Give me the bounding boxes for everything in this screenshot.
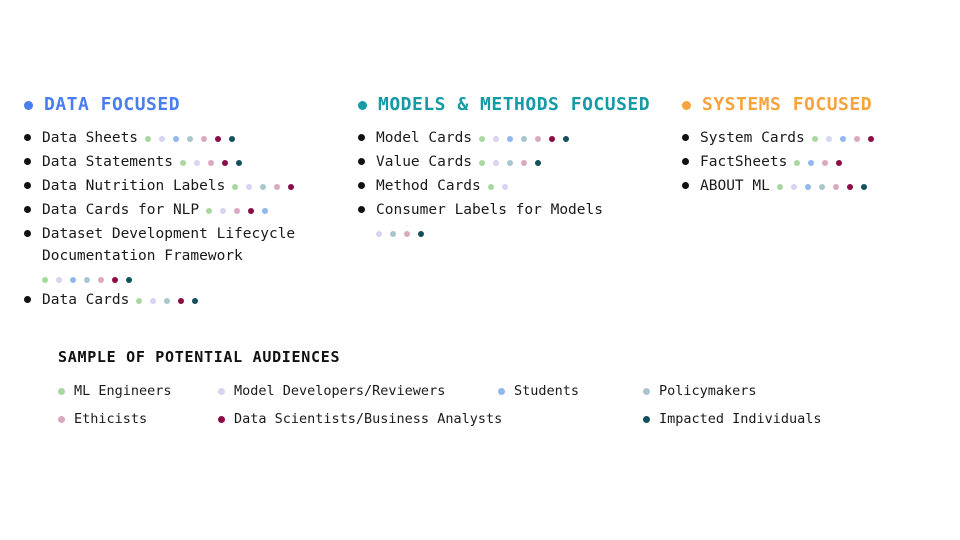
audience-dot-model-developers: [246, 184, 252, 190]
legend-item-students: Students: [498, 383, 643, 399]
audience-dot-ethicists: [98, 277, 104, 283]
legend-label: Data Scientists/Business Analysts: [234, 411, 502, 427]
artifact-bullet-icon: [358, 134, 365, 141]
column-heading-bullet-icon: [682, 101, 691, 110]
artifact-label: Data Cards: [42, 292, 129, 308]
artifact-row: FactSheets: [682, 151, 954, 173]
artifact-bullet-icon: [358, 182, 365, 189]
slide-root: { "palette": { "ml_engineers": "#a8d8a0"…: [0, 0, 960, 540]
audience-dot-ethicists: [208, 160, 214, 166]
audience-dot-group: [232, 175, 294, 194]
legend: SAMPLE OF POTENTIAL AUDIENCES ML Enginee…: [58, 348, 918, 427]
legend-label: Impacted Individuals: [659, 411, 822, 427]
audience-dot-policymakers: [260, 184, 266, 190]
artifact-body: Data Sheets: [42, 127, 364, 149]
artifact-bullet-icon: [682, 158, 689, 165]
artifact-row: Data Sheets: [24, 127, 364, 149]
artifact-label: Dataset Development Lifecycle Documentat…: [42, 226, 304, 264]
audience-dot-model-developers: [493, 160, 499, 166]
audience-dot-group: [794, 151, 842, 170]
column-heading-bullet-icon: [24, 101, 33, 110]
column-heading-data-focused: DATA FOCUSED: [24, 92, 364, 118]
column-title: MODELS & METHODS FOCUSED: [378, 92, 650, 118]
audience-dot-group: [206, 199, 268, 218]
audience-dot-policymakers: [507, 160, 513, 166]
legend-label: ML Engineers: [74, 383, 172, 399]
audience-dot-data-scientists: [868, 136, 874, 142]
artifact-label: Data Nutrition Labels: [42, 178, 225, 194]
legend-item-data-scientists: Data Scientists/Business Analysts: [218, 411, 498, 427]
legend-dot-icon: [498, 388, 505, 395]
artifact-bullet-icon: [682, 182, 689, 189]
audience-dot-model-developers: [791, 184, 797, 190]
artifact-body: System Cards: [700, 127, 954, 149]
artifact-body: FactSheets: [700, 151, 954, 173]
artifact-body: Data Statements: [42, 151, 364, 173]
audience-dot-group: [376, 222, 676, 241]
audience-dot-ml-engineers: [488, 184, 494, 190]
legend-item-ml-engineers: ML Engineers: [58, 383, 218, 399]
audience-dot-policymakers: [390, 231, 396, 237]
legend-title: SAMPLE OF POTENTIAL AUDIENCES: [58, 348, 918, 366]
artifact-row: Data Cards for NLP: [24, 199, 364, 221]
artifact-bullet-icon: [24, 134, 31, 141]
audience-dot-model-developers: [150, 298, 156, 304]
legend-item-model-developers: Model Developers/Reviewers: [218, 383, 498, 399]
audience-dot-model-developers: [826, 136, 832, 142]
legend-label: Students: [514, 383, 579, 399]
audience-dot-ml-engineers: [232, 184, 238, 190]
legend-dot-icon: [643, 388, 650, 395]
artifact-body: Data Cards for NLP: [42, 199, 364, 221]
legend-item-policymakers: Policymakers: [643, 383, 883, 399]
audience-dot-data-scientists: [215, 136, 221, 142]
audience-dot-ml-engineers: [777, 184, 783, 190]
artifact-body: Dataset Development Lifecycle Documentat…: [42, 223, 364, 287]
artifact-label: Value Cards: [376, 154, 472, 170]
column-heading-systems-focused: SYSTEMS FOCUSED: [682, 92, 954, 118]
artifact-list-systems-focused: System CardsFactSheetsABOUT ML: [682, 127, 954, 197]
artifact-body: Data Nutrition Labels: [42, 175, 364, 197]
audience-dot-data-scientists: [549, 136, 555, 142]
audience-dot-group: [777, 175, 867, 194]
audience-dot-policymakers: [521, 136, 527, 142]
artifact-label: FactSheets: [700, 154, 787, 170]
artifact-body: Consumer Labels for Models: [376, 199, 676, 241]
audience-dot-ethicists: [822, 160, 828, 166]
artifact-row: Consumer Labels for Models: [358, 199, 676, 241]
audience-dot-data-scientists: [847, 184, 853, 190]
artifact-row: Value Cards: [358, 151, 676, 173]
artifact-bullet-icon: [24, 296, 31, 303]
column-title: DATA FOCUSED: [44, 92, 180, 118]
legend-dot-icon: [218, 388, 225, 395]
audience-dot-data-scientists: [178, 298, 184, 304]
audience-dot-impacted-individuals: [236, 160, 242, 166]
artifact-bullet-icon: [24, 230, 31, 237]
artifact-label: Model Cards: [376, 130, 472, 146]
audience-dot-impacted-individuals: [535, 160, 541, 166]
audience-dot-students: [173, 136, 179, 142]
audience-dot-ml-engineers: [479, 160, 485, 166]
column-systems-focused: SYSTEMS FOCUSED System CardsFactSheetsAB…: [682, 92, 954, 199]
artifact-row: Dataset Development Lifecycle Documentat…: [24, 223, 364, 287]
audience-dot-data-scientists: [248, 208, 254, 214]
audience-dot-group: [479, 127, 569, 146]
artifact-row: ABOUT ML: [682, 175, 954, 197]
artifact-bullet-icon: [358, 206, 365, 213]
audience-dot-impacted-individuals: [126, 277, 132, 283]
audience-dot-model-developers: [376, 231, 382, 237]
audience-dot-students: [70, 277, 76, 283]
artifact-body: ABOUT ML: [700, 175, 954, 197]
artifact-body: Data Cards: [42, 289, 364, 311]
artifact-body: Method Cards: [376, 175, 676, 197]
audience-dot-students: [808, 160, 814, 166]
legend-spacer: [498, 411, 643, 427]
artifact-row: Method Cards: [358, 175, 676, 197]
audience-dot-ml-engineers: [794, 160, 800, 166]
legend-dot-icon: [58, 416, 65, 423]
artifact-row: System Cards: [682, 127, 954, 149]
artifact-label: ABOUT ML: [700, 178, 770, 194]
artifact-body: Model Cards: [376, 127, 676, 149]
audience-dot-ml-engineers: [136, 298, 142, 304]
legend-label: Model Developers/Reviewers: [234, 383, 445, 399]
artifact-row: Model Cards: [358, 127, 676, 149]
artifact-label: Data Cards for NLP: [42, 202, 199, 218]
audience-dot-students: [507, 136, 513, 142]
column-heading-models-methods-focused: MODELS & METHODS FOCUSED: [358, 92, 676, 118]
legend-dot-icon: [643, 416, 650, 423]
column-heading-bullet-icon: [358, 101, 367, 110]
artifact-body: Value Cards: [376, 151, 676, 173]
legend-grid: ML EngineersModel Developers/ReviewersSt…: [58, 383, 918, 427]
audience-dot-ml-engineers: [145, 136, 151, 142]
audience-dot-model-developers: [56, 277, 62, 283]
audience-dot-impacted-individuals: [418, 231, 424, 237]
audience-dot-group: [488, 175, 508, 194]
artifact-bullet-icon: [24, 206, 31, 213]
audience-dot-data-scientists: [112, 277, 118, 283]
audience-dot-group: [145, 127, 235, 146]
audience-dot-ml-engineers: [206, 208, 212, 214]
audience-dot-data-scientists: [836, 160, 842, 166]
artifact-bullet-icon: [24, 182, 31, 189]
audience-dot-students: [262, 208, 268, 214]
audience-dot-model-developers: [493, 136, 499, 142]
audience-dot-ethicists: [404, 231, 410, 237]
artifact-label: Data Sheets: [42, 130, 138, 146]
audience-dot-model-developers: [502, 184, 508, 190]
artifact-list-models-methods-focused: Model CardsValue CardsMethod CardsConsum…: [358, 127, 676, 241]
column-data-focused: DATA FOCUSED Data SheetsData StatementsD…: [24, 92, 364, 313]
audience-dot-ethicists: [535, 136, 541, 142]
audience-dot-ml-engineers: [180, 160, 186, 166]
audience-dot-ml-engineers: [42, 277, 48, 283]
audience-dot-group: [479, 151, 541, 170]
audience-dot-data-scientists: [288, 184, 294, 190]
audience-dot-data-scientists: [222, 160, 228, 166]
column-models-methods-focused: MODELS & METHODS FOCUSED Model CardsValu…: [358, 92, 676, 243]
audience-dot-ml-engineers: [812, 136, 818, 142]
audience-dot-ethicists: [201, 136, 207, 142]
artifact-columns: DATA FOCUSED Data SheetsData StatementsD…: [0, 92, 960, 312]
column-title: SYSTEMS FOCUSED: [702, 92, 872, 118]
audience-dot-policymakers: [819, 184, 825, 190]
legend-dot-icon: [58, 388, 65, 395]
audience-dot-ethicists: [521, 160, 527, 166]
artifact-bullet-icon: [358, 158, 365, 165]
audience-dot-model-developers: [159, 136, 165, 142]
legend-label: Policymakers: [659, 383, 757, 399]
legend-dot-icon: [218, 416, 225, 423]
artifact-row: Data Statements: [24, 151, 364, 173]
artifact-label: System Cards: [700, 130, 805, 146]
audience-dot-ethicists: [234, 208, 240, 214]
audience-dot-students: [805, 184, 811, 190]
audience-dot-ethicists: [274, 184, 280, 190]
audience-dot-impacted-individuals: [563, 136, 569, 142]
audience-dot-students: [840, 136, 846, 142]
artifact-row: Data Nutrition Labels: [24, 175, 364, 197]
audience-dot-group: [180, 151, 242, 170]
audience-dot-ethicists: [854, 136, 860, 142]
audience-dot-policymakers: [164, 298, 170, 304]
artifact-bullet-icon: [682, 134, 689, 141]
legend-item-ethicists: Ethicists: [58, 411, 218, 427]
audience-dot-group: [812, 127, 874, 146]
artifact-label: Data Statements: [42, 154, 173, 170]
audience-dot-model-developers: [220, 208, 226, 214]
artifact-bullet-icon: [24, 158, 31, 165]
audience-dot-impacted-individuals: [192, 298, 198, 304]
legend-item-impacted-individuals: Impacted Individuals: [643, 411, 883, 427]
audience-dot-policymakers: [84, 277, 90, 283]
legend-label: Ethicists: [74, 411, 147, 427]
audience-dot-group: [136, 289, 198, 308]
audience-dot-group: [42, 268, 364, 287]
audience-dot-impacted-individuals: [229, 136, 235, 142]
artifact-row: Data Cards: [24, 289, 364, 311]
audience-dot-ml-engineers: [479, 136, 485, 142]
artifact-label: Consumer Labels for Models: [376, 202, 603, 218]
audience-dot-policymakers: [187, 136, 193, 142]
artifact-list-data-focused: Data SheetsData StatementsData Nutrition…: [24, 127, 364, 311]
audience-dot-impacted-individuals: [861, 184, 867, 190]
audience-dot-model-developers: [194, 160, 200, 166]
artifact-label: Method Cards: [376, 178, 481, 194]
audience-dot-ethicists: [833, 184, 839, 190]
